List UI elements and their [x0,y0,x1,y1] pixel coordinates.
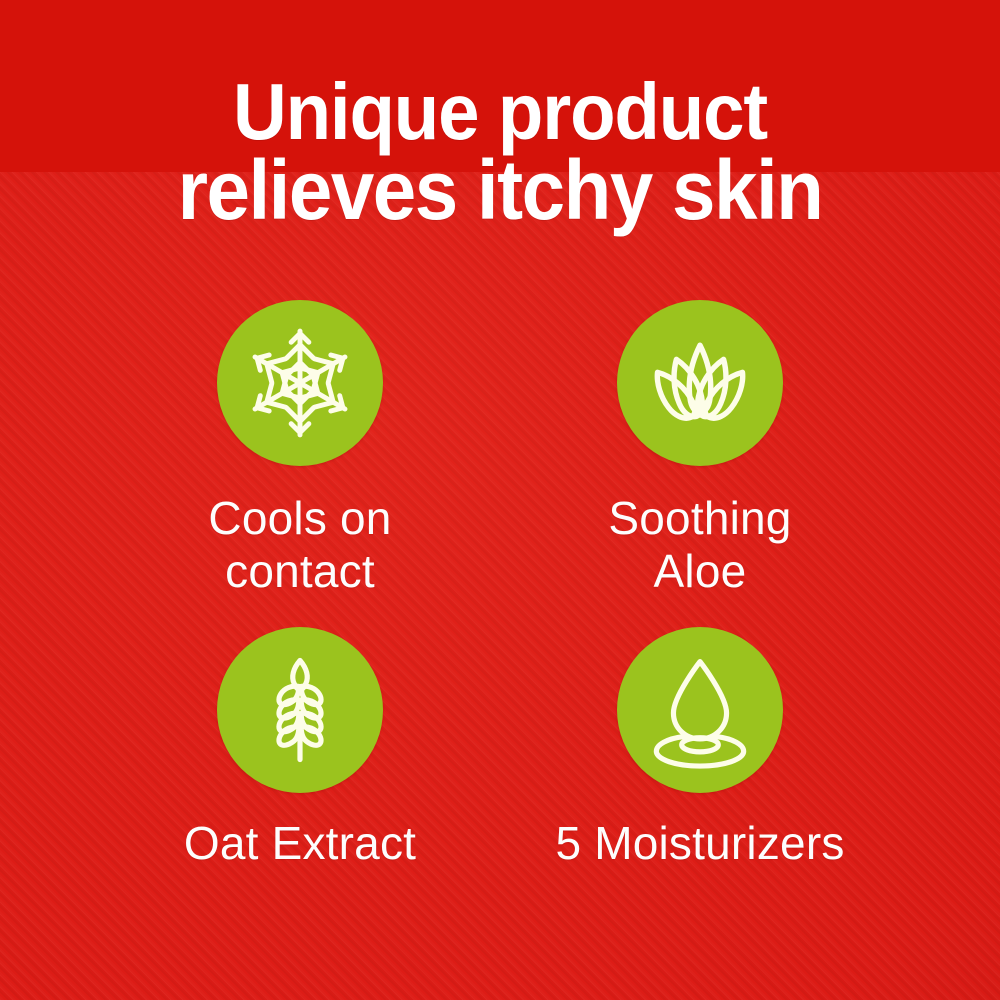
headline-line-2: relieves itchy skin [35,151,965,230]
icon-circle-snowflake [217,300,383,466]
feature-soothing-aloe: Soothing Aloe [500,300,900,598]
feature-label-oat-extract: Oat Extract [184,817,416,870]
feature-label-cools-on-contact: Cools on contact [208,492,391,598]
feature-row-bottom: Oat Extract 5 Moisturizers [0,627,1000,870]
icon-circle-droplet [617,627,783,793]
feature-row-top: Cools on contact [0,300,1000,598]
headline-line-1: Unique product [35,72,965,151]
feature-grid: Cools on contact [0,300,1000,870]
feature-oat-extract: Oat Extract [100,627,500,870]
icon-circle-aloe [617,300,783,466]
headline: Unique product relieves itchy skin [35,72,965,230]
feature-label-soothing-aloe: Soothing Aloe [608,492,791,598]
water-droplet-icon [641,651,759,769]
feature-moisturizers: 5 Moisturizers [500,627,900,870]
aloe-plant-icon [641,324,759,442]
feature-label-moisturizers: 5 Moisturizers [555,817,844,870]
oat-stalk-icon [241,651,359,769]
icon-circle-oat [217,627,383,793]
product-benefits-poster: Unique product relieves itchy skin [0,0,1000,1000]
feature-cools-on-contact: Cools on contact [100,300,500,598]
snowflake-icon [241,324,359,442]
